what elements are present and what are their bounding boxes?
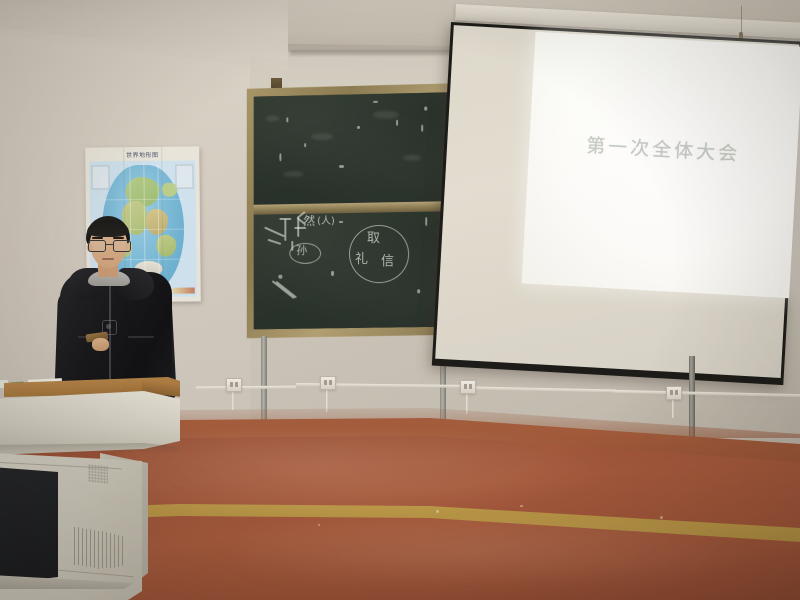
classroom-scene: 世界地形图 (0, 0, 800, 600)
blackboard-panel-lower (254, 213, 450, 331)
floor-reflection (120, 430, 620, 520)
presenter-hair-fringe (87, 220, 129, 237)
projected-slide: 第一次全体大会 (522, 32, 800, 299)
chalk-character: 礼 (355, 253, 368, 266)
wall-outlet[interactable] (226, 378, 242, 392)
chalk-character: 孙 (296, 245, 307, 256)
slide-title-text: 第一次全体大会 (529, 128, 798, 170)
presenter-mouth (102, 258, 114, 260)
projection-screen-fabric: 第一次全体大会 (435, 25, 799, 378)
presenter-glasses (88, 240, 130, 251)
classroom-blackboard: 然 (人) 孙 取 礼 信 (247, 83, 457, 340)
wall-outlet[interactable] (666, 386, 682, 400)
blackboard-panel-upper (254, 92, 450, 205)
map-inset-left (91, 165, 109, 189)
chalk-character: 取 (367, 232, 380, 245)
lectern-control-panel[interactable] (0, 467, 58, 585)
blackboard-surface: 然 (人) 孙 取 礼 信 (254, 92, 450, 330)
multimedia-lectern (0, 377, 188, 600)
map-inset-right (175, 164, 193, 188)
wall-outlet[interactable] (320, 376, 336, 390)
projection-screen[interactable]: 第一次全体大会 (432, 22, 800, 385)
chalk-character: 信 (381, 255, 394, 268)
floor-reflection (240, 520, 760, 590)
presenter-hand-left (92, 338, 109, 351)
wall-outlet[interactable] (460, 380, 476, 394)
